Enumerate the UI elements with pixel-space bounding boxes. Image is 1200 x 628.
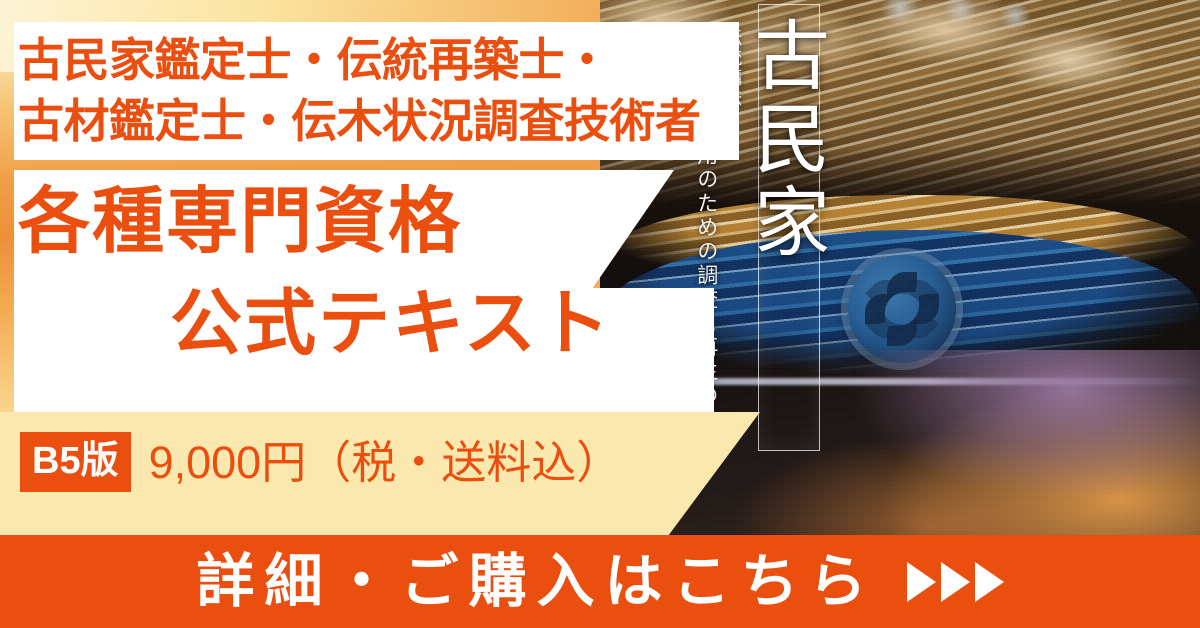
promo-banner: 古民家活用のための調査と再生の 伝統構法 古民家 古民家鑑定士・伝統再築士・ 古…: [0, 0, 1200, 628]
cover-title-vertical: 古民家: [750, 16, 830, 265]
headline-line-1: 古民家鑑定士・伝統再築士・: [18, 30, 738, 91]
triple-right-arrow-icon: [907, 562, 1004, 602]
qualification-headline: 古民家鑑定士・伝統再築士・ 古材鑑定士・伝木状況調査技術者: [18, 30, 738, 152]
cta-label: 詳細・ご購入はこちら: [196, 553, 876, 611]
format-badge: B5版: [20, 432, 131, 492]
headline-line-2: 古材鑑定士・伝木状況調査技術者: [18, 91, 738, 152]
main-title-line-1: 各種専門資格: [18, 186, 462, 258]
cta-bar[interactable]: 詳細・ご購入はこちら: [0, 535, 1200, 628]
price-row: B5版 9,000円（税・送料込）: [20, 432, 621, 492]
main-title-line-2: 公式テキスト: [170, 288, 612, 360]
price-text: 9,000円（税・送料込）: [149, 440, 622, 485]
